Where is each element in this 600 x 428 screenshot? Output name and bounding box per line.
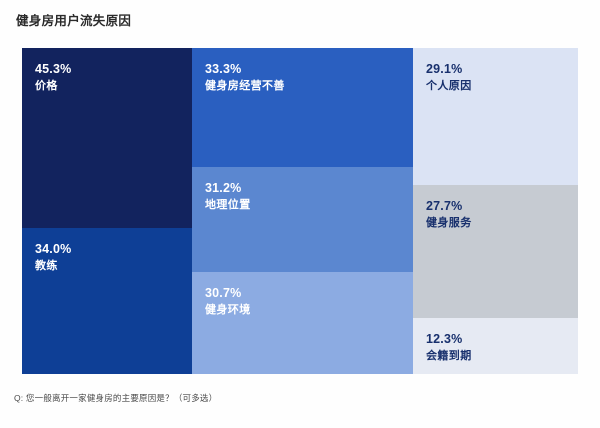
tile-personal-reason[interactable]: 29.1% 个人原因 xyxy=(413,48,578,185)
tile-label: 教练 xyxy=(35,258,192,275)
tile-label: 健身服务 xyxy=(426,215,578,232)
tile-price[interactable]: 45.3% 价格 xyxy=(22,48,192,228)
tile-percent: 12.3% xyxy=(426,332,578,348)
tile-membership-expired[interactable]: 12.3% 会籍到期 xyxy=(413,318,578,374)
tile-environment[interactable]: 30.7% 健身环境 xyxy=(192,272,413,374)
tile-label: 个人原因 xyxy=(426,78,578,95)
tile-percent: 45.3% xyxy=(35,62,192,78)
tile-percent: 33.3% xyxy=(205,62,413,78)
tile-percent: 31.2% xyxy=(205,181,413,197)
chart-column-3: 29.1% 个人原因 27.7% 健身服务 12.3% 会籍到期 xyxy=(413,48,578,374)
mosaic-chart: 45.3% 价格 34.0% 教练 33.3% 健身房经营不善 31.2% 地理… xyxy=(22,48,578,374)
tile-label: 健身房经营不善 xyxy=(205,78,413,95)
tile-percent: 29.1% xyxy=(426,62,578,78)
chart-column-2: 33.3% 健身房经营不善 31.2% 地理位置 30.7% 健身环境 xyxy=(192,48,413,374)
chart-page: 健身房用户流失原因 45.3% 价格 34.0% 教练 33.3% 健身房经营不… xyxy=(0,0,600,428)
chart-title: 健身房用户流失原因 xyxy=(16,10,131,29)
chart-footnote: Q: 您一般离开一家健身房的主要原因是？（可多选） xyxy=(14,392,217,404)
tile-label: 地理位置 xyxy=(205,197,413,214)
tile-label: 健身环境 xyxy=(205,302,413,319)
tile-percent: 30.7% xyxy=(205,286,413,302)
tile-percent: 27.7% xyxy=(426,199,578,215)
tile-label: 价格 xyxy=(35,78,192,95)
tile-poor-management[interactable]: 33.3% 健身房经营不善 xyxy=(192,48,413,167)
tile-location[interactable]: 31.2% 地理位置 xyxy=(192,167,413,272)
tile-percent: 34.0% xyxy=(35,242,192,258)
tile-coach[interactable]: 34.0% 教练 xyxy=(22,228,192,374)
tile-label: 会籍到期 xyxy=(426,348,578,365)
tile-fitness-service[interactable]: 27.7% 健身服务 xyxy=(413,185,578,318)
chart-column-1: 45.3% 价格 34.0% 教练 xyxy=(22,48,192,374)
